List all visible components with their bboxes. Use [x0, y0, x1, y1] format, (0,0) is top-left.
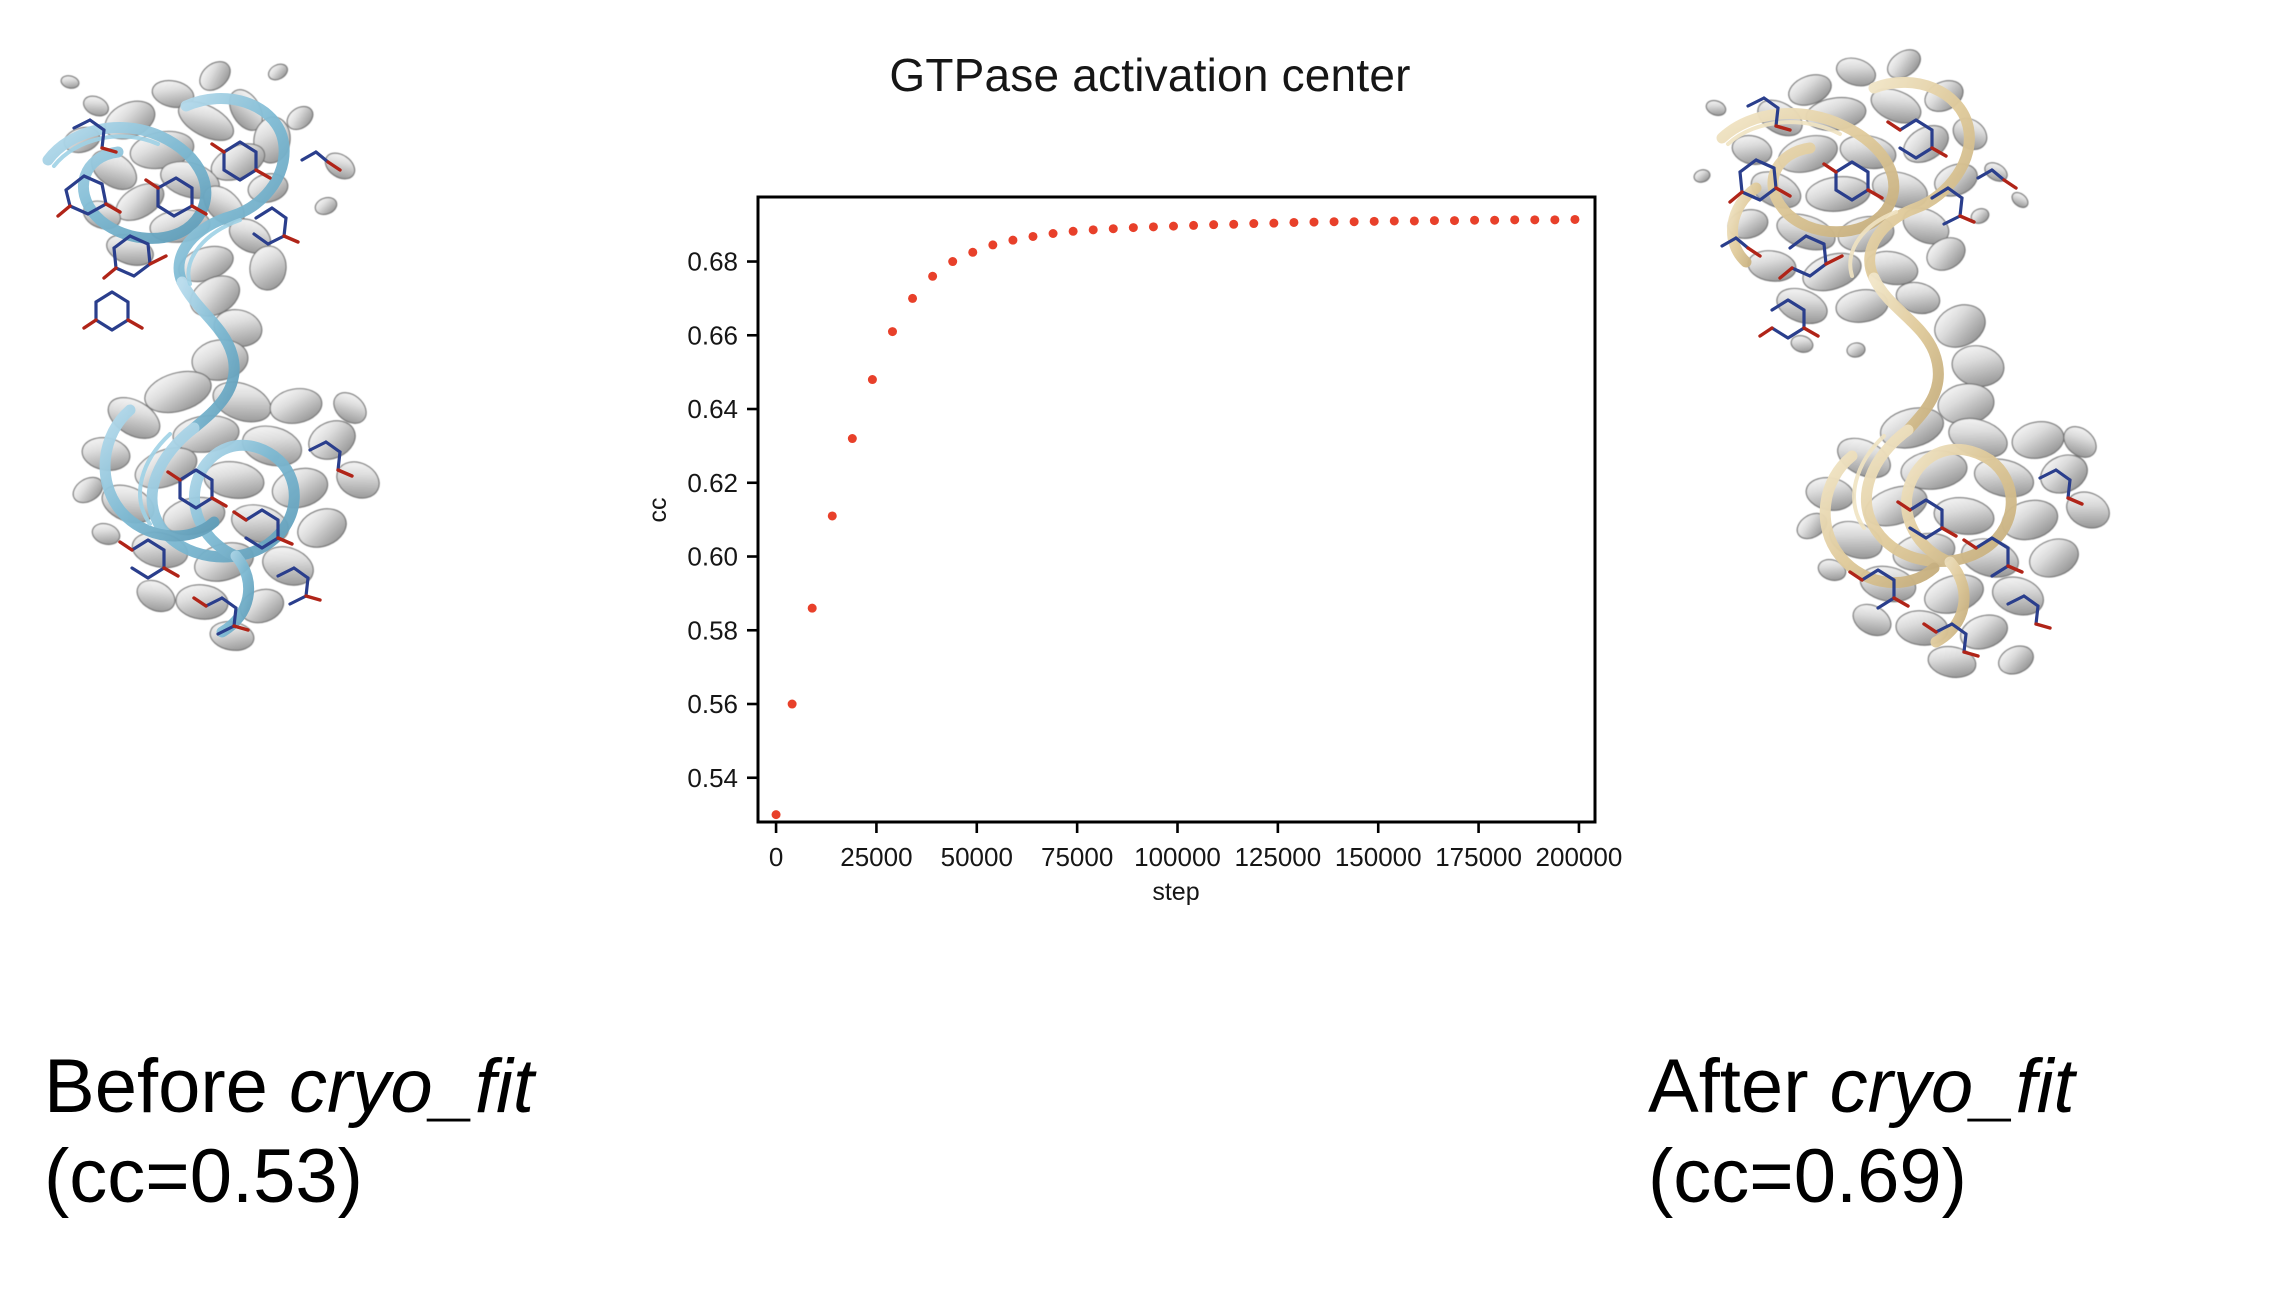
y-tick-label: 0.58	[687, 615, 738, 645]
data-point	[888, 327, 897, 336]
x-tick-label: 0	[769, 842, 783, 872]
data-point	[1570, 215, 1579, 224]
data-point	[1189, 221, 1198, 230]
y-tick-label: 0.62	[687, 468, 738, 498]
data-point	[1229, 220, 1238, 229]
caption-after-italic: cryo_fit	[1830, 1044, 2075, 1129]
data-point	[1028, 232, 1037, 241]
data-point	[808, 604, 817, 613]
data-point	[988, 240, 997, 249]
x-tick-label: 50000	[941, 842, 1013, 872]
y-tick-label: 0.56	[687, 689, 738, 719]
x-tick-label: 175000	[1435, 842, 1522, 872]
molecule-render-after	[1660, 10, 2280, 700]
y-axis-ticks: 0.540.560.580.600.620.640.660.68	[687, 247, 758, 793]
data-point	[1370, 217, 1379, 226]
data-point	[1069, 227, 1078, 236]
data-point	[948, 257, 957, 266]
data-point	[1510, 215, 1519, 224]
data-point	[1209, 220, 1218, 229]
data-point	[848, 434, 857, 443]
data-point	[1470, 216, 1479, 225]
x-tick-label: 125000	[1234, 842, 1321, 872]
data-point	[1490, 216, 1499, 225]
data-point	[1089, 225, 1098, 234]
caption-before: Before cryo_fit (cc=0.53)	[44, 1042, 534, 1221]
y-tick-label: 0.64	[687, 394, 738, 424]
data-point	[1309, 218, 1318, 227]
x-tick-label: 75000	[1041, 842, 1113, 872]
x-axis-ticks: 0250005000075000100000125000150000175000…	[769, 822, 1622, 872]
data-point	[1410, 216, 1419, 225]
x-tick-label: 150000	[1335, 842, 1422, 872]
data-point	[1129, 223, 1138, 232]
caption-before-line1: Before cryo_fit	[44, 1042, 534, 1132]
y-axis-label: cc	[644, 498, 672, 523]
data-point	[788, 700, 797, 709]
y-tick-label: 0.66	[687, 320, 738, 350]
data-point	[1289, 218, 1298, 227]
caption-after-line2: (cc=0.69)	[1648, 1132, 2075, 1222]
caption-after: After cryo_fit (cc=0.69)	[1648, 1042, 2075, 1221]
data-point	[1249, 219, 1258, 228]
x-tick-label: 100000	[1134, 842, 1221, 872]
molecule-render-before	[10, 10, 610, 670]
cc-vs-step-chart: GTPase activation center 0.540.560.580.6…	[620, 20, 1680, 930]
molecule-after-svg	[1660, 10, 2280, 700]
axes-frame	[758, 197, 1595, 822]
data-point	[1450, 216, 1459, 225]
y-tick-label: 0.68	[687, 247, 738, 277]
data-point	[1109, 224, 1118, 233]
data-point	[1049, 229, 1058, 238]
data-point	[968, 248, 977, 257]
y-tick-label: 0.54	[687, 763, 738, 793]
x-axis-label: step	[1152, 878, 1199, 906]
y-tick-label: 0.60	[687, 542, 738, 572]
data-point	[1330, 217, 1339, 226]
data-point	[772, 810, 781, 819]
chart-plot-area: 0.540.560.580.600.620.640.660.68 0250005…	[620, 20, 1680, 930]
caption-after-prefix: After	[1648, 1044, 1830, 1129]
caption-after-line1: After cryo_fit	[1648, 1042, 2075, 1132]
data-point	[928, 272, 937, 281]
data-point	[908, 294, 917, 303]
x-tick-label: 200000	[1536, 842, 1623, 872]
data-point	[1430, 216, 1439, 225]
molecule-before-svg	[10, 10, 610, 670]
data-point	[828, 511, 837, 520]
caption-before-line2: (cc=0.53)	[44, 1132, 534, 1222]
data-point	[1530, 215, 1539, 224]
x-tick-label: 25000	[840, 842, 912, 872]
caption-before-italic: cryo_fit	[289, 1044, 534, 1129]
data-point	[1350, 217, 1359, 226]
data-point	[1169, 222, 1178, 231]
data-point	[1149, 222, 1158, 231]
data-point	[868, 375, 877, 384]
data-point	[1008, 236, 1017, 245]
caption-before-prefix: Before	[44, 1044, 289, 1129]
data-point	[1550, 215, 1559, 224]
data-point	[1269, 219, 1278, 228]
data-point	[1390, 216, 1399, 225]
